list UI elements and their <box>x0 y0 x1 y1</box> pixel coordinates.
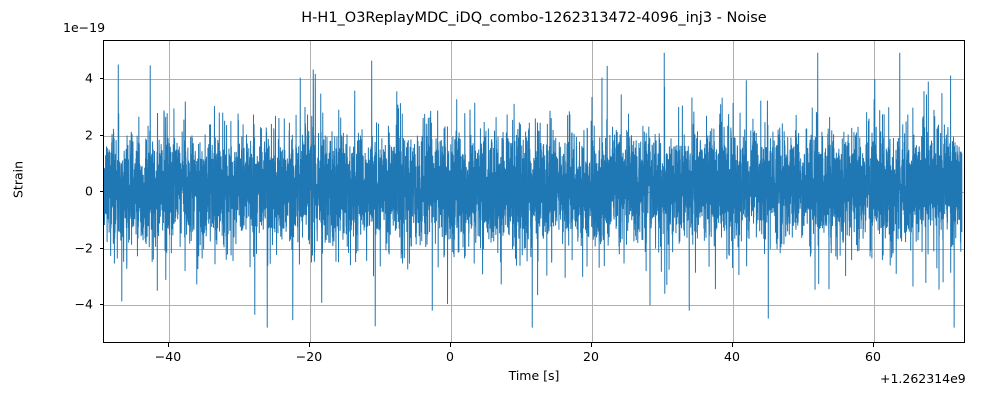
ticklabel-x-20: 20 <box>583 349 599 364</box>
tick-x-neg20 <box>309 343 310 347</box>
y-axis-label: Strain <box>11 140 26 220</box>
tick-y-4 <box>100 78 104 79</box>
ticklabel-y-2: 2 <box>33 128 93 143</box>
ticklabel-x-40: 40 <box>724 349 740 364</box>
ticklabel-x-60: 60 <box>865 349 881 364</box>
tick-x-0 <box>450 343 451 347</box>
ticklabel-y-4: 4 <box>33 71 93 86</box>
tick-y-neg4 <box>100 304 104 305</box>
tick-y-neg2 <box>100 248 104 249</box>
plot-axes <box>103 40 965 343</box>
ticklabel-y-neg2: −2 <box>33 241 93 256</box>
ticklabel-x-0: 0 <box>446 349 454 364</box>
x-axis-offset-label: +1.262314e9 <box>880 371 966 386</box>
tick-x-60 <box>873 343 874 347</box>
tick-x-neg40 <box>168 343 169 347</box>
ticklabel-y-neg4: −4 <box>33 297 93 312</box>
tick-y-0 <box>100 191 104 192</box>
noise-series-line <box>104 41 964 342</box>
tick-y-2 <box>100 135 104 136</box>
ticklabel-x-neg40: −40 <box>155 349 181 364</box>
ticklabel-x-neg20: −20 <box>296 349 322 364</box>
chart-title: H-H1_O3ReplayMDC_iDQ_combo-1262313472-40… <box>103 10 965 26</box>
y-axis-exponent-label: 1e−19 <box>63 20 105 35</box>
ticklabel-y-0: 0 <box>33 184 93 199</box>
tick-x-40 <box>732 343 733 347</box>
x-axis-label: Time [s] <box>103 368 965 383</box>
tick-x-20 <box>591 343 592 347</box>
figure-canvas: H-H1_O3ReplayMDC_iDQ_combo-1262313472-40… <box>0 0 1000 400</box>
